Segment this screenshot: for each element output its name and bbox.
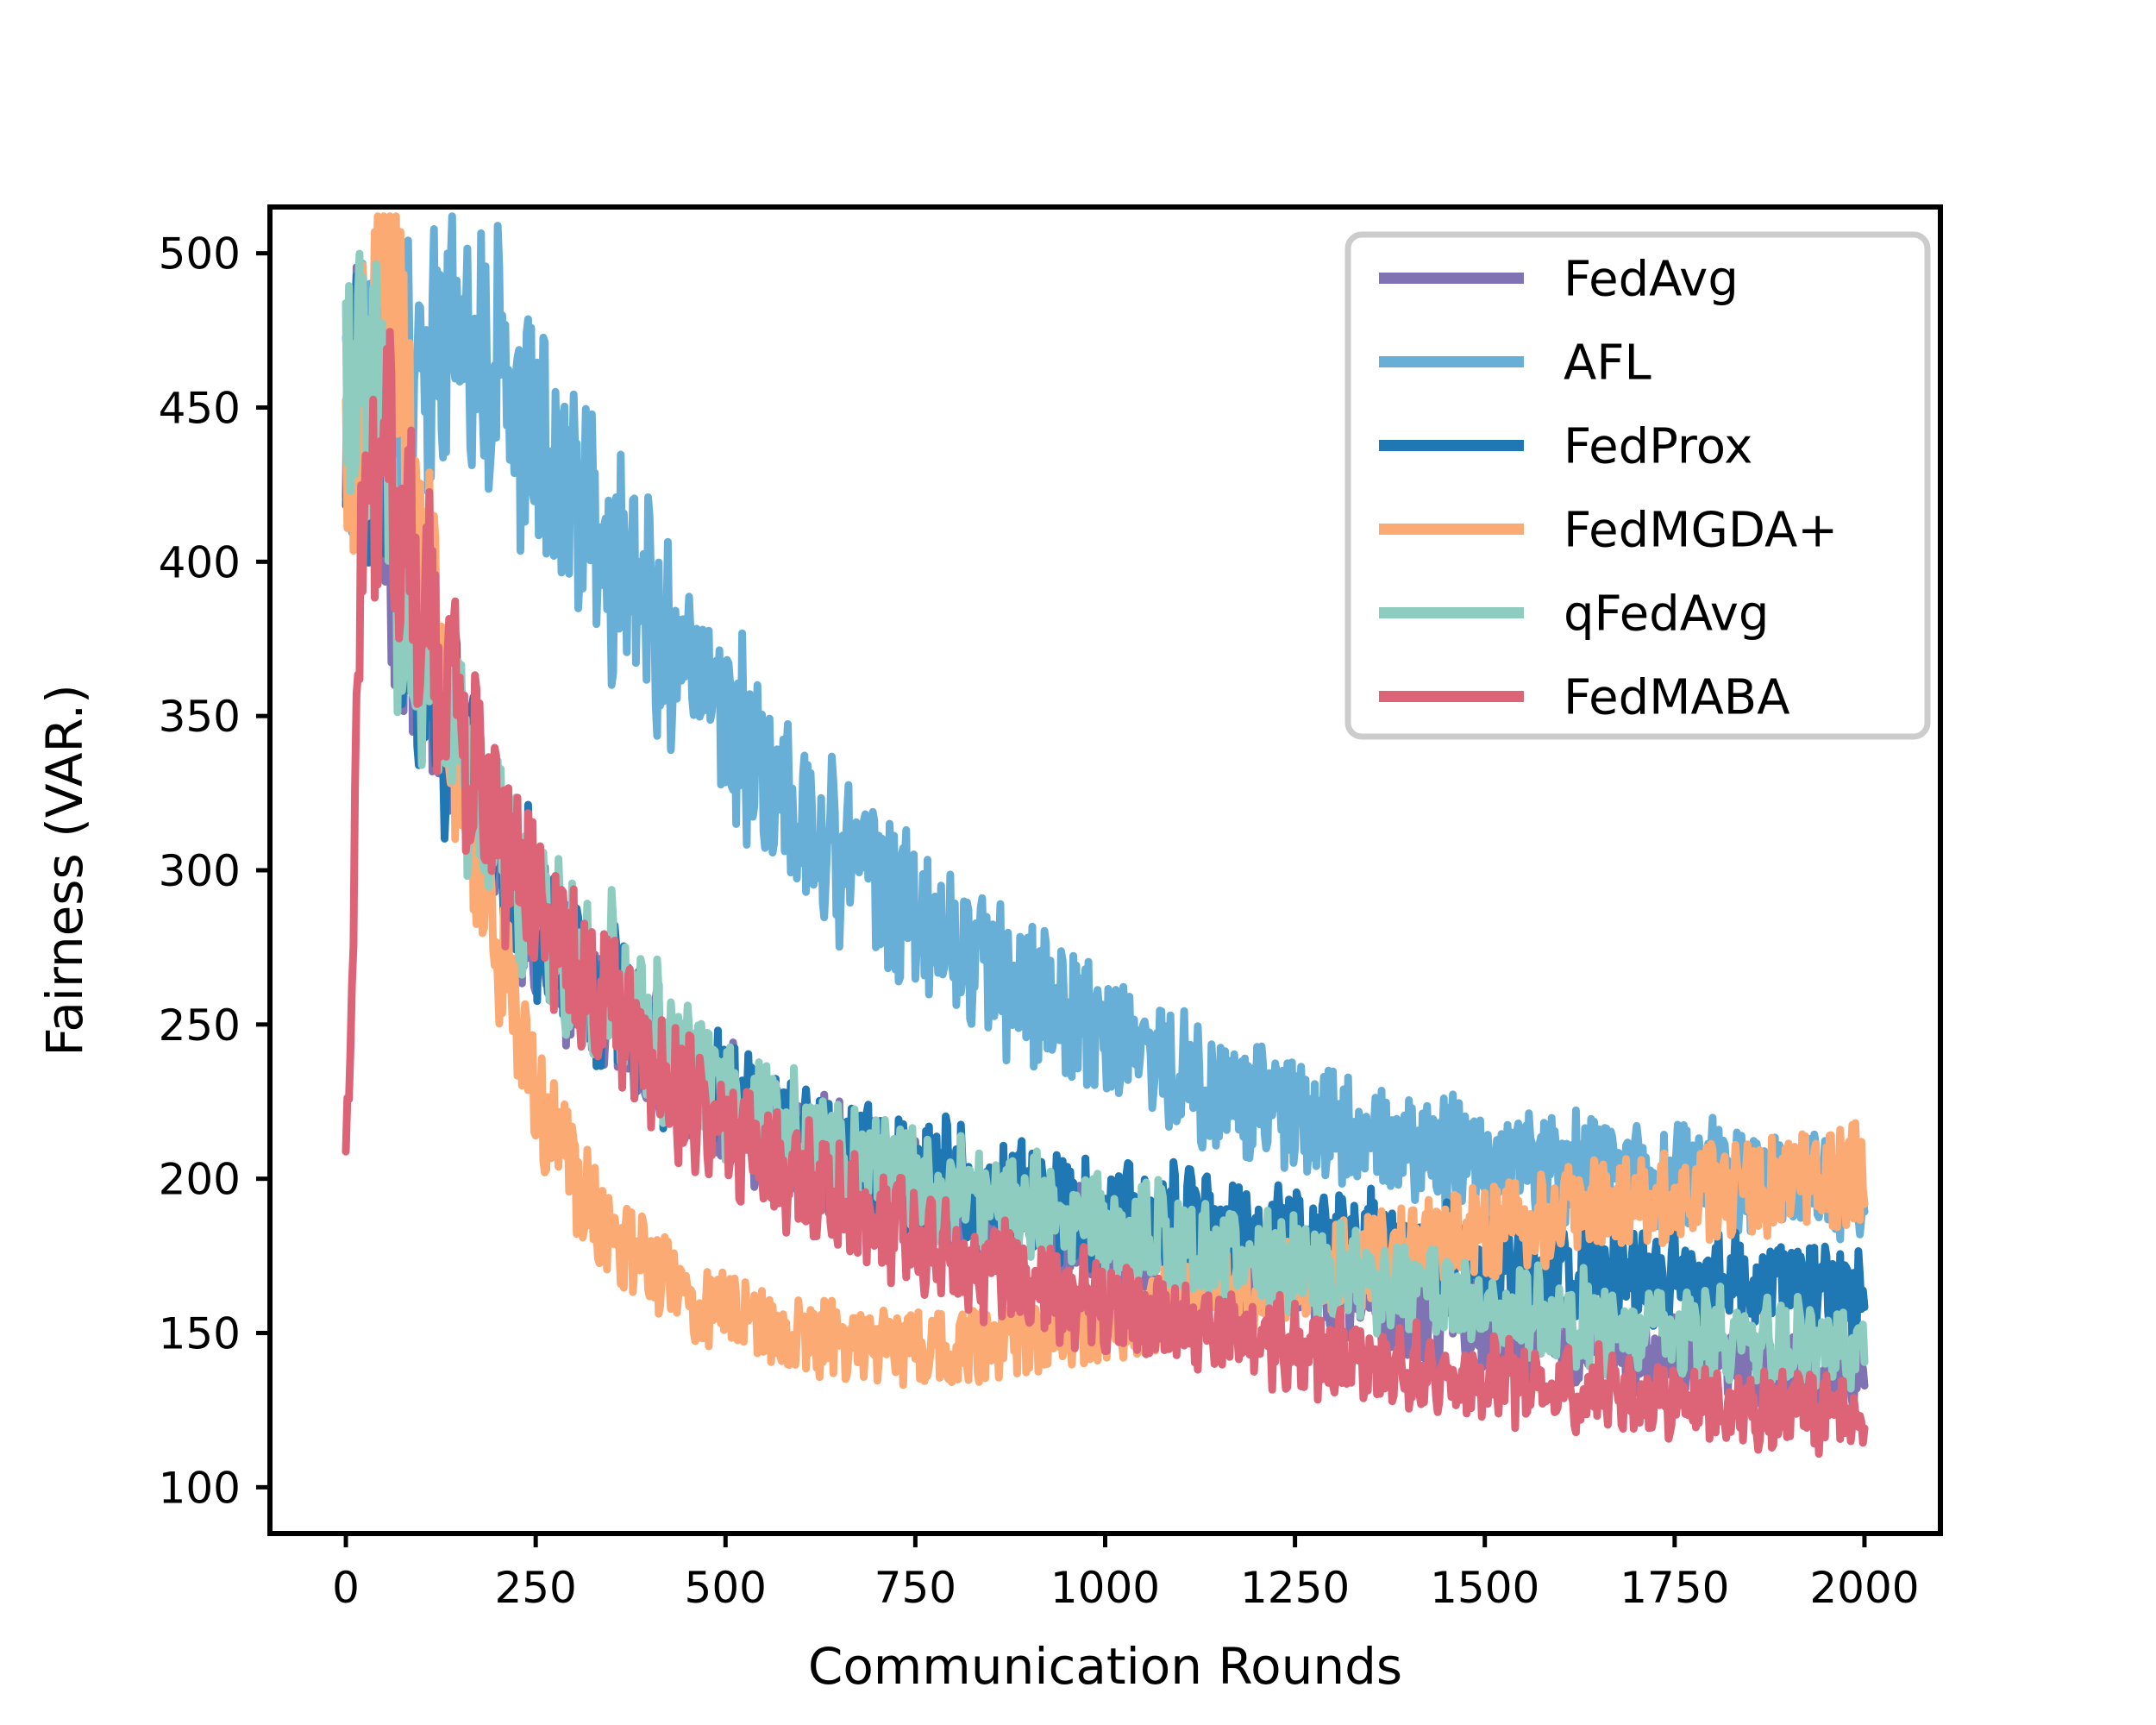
x-axis-title: Communication Rounds xyxy=(808,1637,1402,1696)
y-tick-label: 350 xyxy=(159,692,241,742)
fairness-variance-line-chart: 0250500750100012501500175020001001502002… xyxy=(0,0,2156,1725)
legend-box xyxy=(1348,235,1927,737)
x-tick-label: 1750 xyxy=(1620,1563,1729,1613)
y-tick-label: 300 xyxy=(159,846,241,896)
x-tick-label: 2000 xyxy=(1809,1563,1919,1613)
y-axis-title: Fairness (VAR.) xyxy=(35,684,94,1056)
legend-label-fedmaba: FedMABA xyxy=(1564,670,1790,726)
y-tick-label: 200 xyxy=(159,1155,241,1205)
x-tick-label: 500 xyxy=(685,1563,767,1613)
y-tick-label: 400 xyxy=(159,537,241,587)
x-tick-label: 0 xyxy=(332,1563,360,1613)
legend-label-qfedavg: qFedAvg xyxy=(1564,586,1769,643)
chart-legend: FedAvgAFLFedProxFedMGDA+qFedAvgFedMABA xyxy=(1348,235,1927,737)
x-tick-label: 1000 xyxy=(1050,1563,1160,1613)
legend-label-afl: AFL xyxy=(1564,336,1651,392)
y-tick-label: 500 xyxy=(159,229,241,279)
legend-label-fedmgda-: FedMGDA+ xyxy=(1564,503,1838,559)
x-tick-label: 1500 xyxy=(1430,1563,1539,1613)
chart-figure: 0250500750100012501500175020001001502002… xyxy=(0,0,2156,1725)
legend-label-fedprox: FedProx xyxy=(1564,419,1752,475)
x-tick-label: 750 xyxy=(874,1563,956,1613)
y-tick-label: 150 xyxy=(159,1309,241,1359)
x-tick-label: 1250 xyxy=(1240,1563,1350,1613)
y-tick-label: 100 xyxy=(159,1463,241,1513)
y-tick-label: 250 xyxy=(159,1000,241,1051)
x-tick-label: 250 xyxy=(494,1563,576,1613)
legend-label-fedavg: FedAvg xyxy=(1564,252,1739,308)
y-tick-label: 450 xyxy=(159,383,241,433)
